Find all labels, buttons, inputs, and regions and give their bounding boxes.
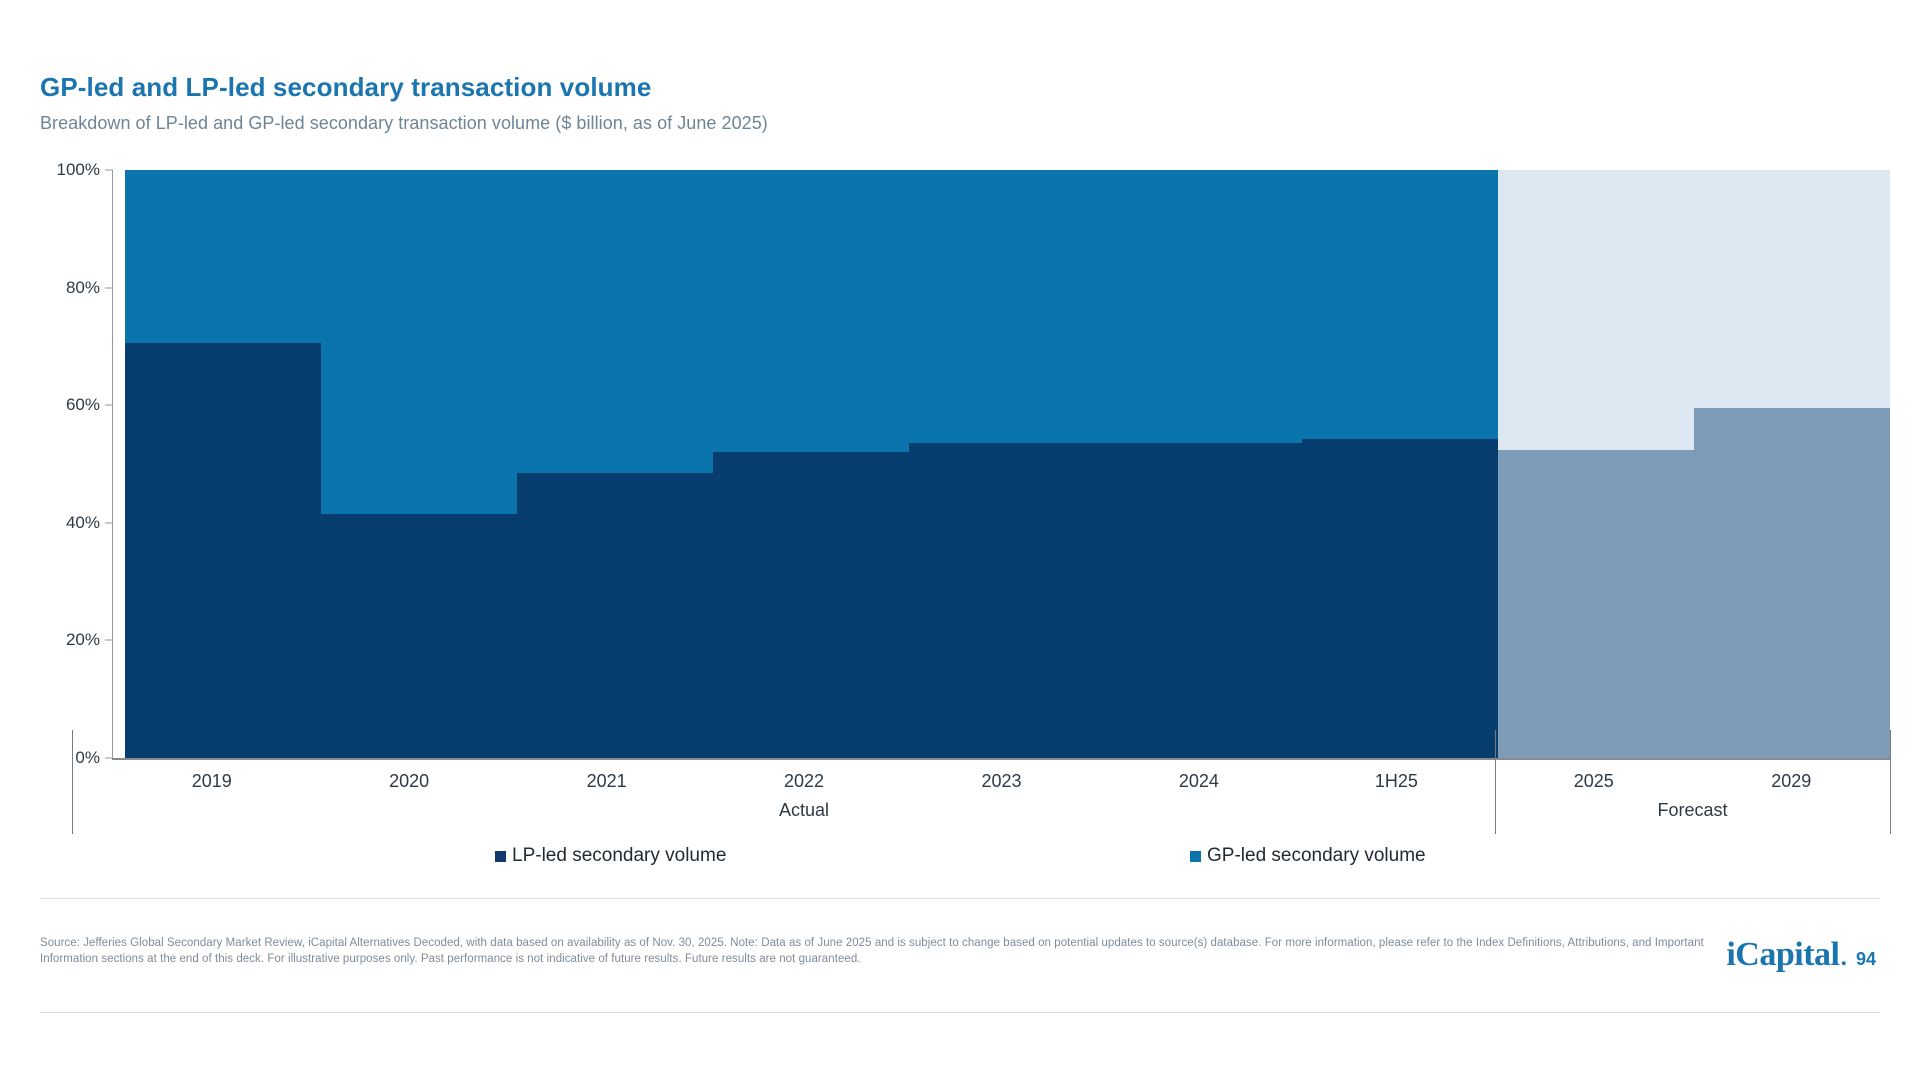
- bar-2024[interactable]: [1094, 170, 1290, 758]
- x-label-2021: 2021: [508, 766, 705, 796]
- footnote: Source: Jefferies Global Secondary Marke…: [40, 935, 1720, 967]
- y-tick-label: 100%: [57, 160, 100, 180]
- x-label-2025: 2025: [1495, 766, 1692, 796]
- bar-segment-gpled-2019[interactable]: [125, 170, 321, 343]
- y-tick-label: 0%: [75, 748, 100, 768]
- y-tick-mark: [105, 170, 113, 171]
- x-label-2029: 2029: [1693, 766, 1890, 796]
- y-tick-mark: [105, 522, 113, 523]
- legend-swatch-icon: [495, 851, 506, 862]
- y-tick-label: 40%: [66, 513, 100, 533]
- legend-swatch-icon: [1190, 851, 1201, 862]
- x-axis-group-labels: ActualForecast: [113, 800, 1890, 834]
- bar-2022[interactable]: [701, 170, 897, 758]
- group-label-actual: Actual: [113, 800, 1495, 821]
- legend-item-gp-led[interactable]: GP-led secondary volume: [1190, 845, 1426, 867]
- bar-segment-lpled-2019[interactable]: [125, 343, 321, 758]
- group-divider: [1495, 730, 1496, 834]
- bar-1H25[interactable]: [1290, 170, 1486, 758]
- bar-2021[interactable]: [505, 170, 701, 758]
- logo-dot: .: [1839, 936, 1848, 974]
- page-title: GP-led and LP-led secondary transaction …: [40, 72, 651, 103]
- bar-segment-lpled-2021[interactable]: [517, 473, 713, 758]
- bar-segment-lpled-2022[interactable]: [713, 452, 909, 758]
- bar-2029[interactable]: [1682, 170, 1878, 758]
- bar-2020[interactable]: [309, 170, 505, 758]
- bar-segment-gpled-2021[interactable]: [517, 170, 713, 473]
- y-tick-label: 80%: [66, 278, 100, 298]
- x-axis-labels: 2019202020212022202320241H2520252029: [113, 766, 1890, 796]
- group-divider-left: [72, 730, 73, 834]
- bar-group: [113, 170, 1878, 758]
- bar-segment-gpled-2025[interactable]: [1498, 170, 1694, 450]
- chart-legend: LP-led secondary volumeGP-led secondary …: [40, 845, 1840, 885]
- y-tick-mark: [105, 287, 113, 288]
- slide: GP-led and LP-led secondary transaction …: [0, 0, 1920, 1080]
- bar-segment-gpled-2023[interactable]: [909, 170, 1105, 443]
- y-tick-label: 60%: [66, 395, 100, 415]
- divider-top: [40, 898, 1880, 899]
- legend-label: LP-led secondary volume: [512, 845, 726, 867]
- icapital-logo: iCapital: [1726, 936, 1839, 974]
- x-label-2022: 2022: [705, 766, 902, 796]
- bar-2025[interactable]: [1486, 170, 1682, 758]
- x-axis-line: [112, 758, 1890, 760]
- bar-segment-lpled-2025[interactable]: [1498, 450, 1694, 758]
- bar-2019[interactable]: [113, 170, 309, 758]
- bar-segment-lpled-2029[interactable]: [1694, 408, 1890, 758]
- x-label-2019: 2019: [113, 766, 310, 796]
- bar-segment-lpled-2020[interactable]: [321, 514, 517, 758]
- y-tick-label: 20%: [66, 630, 100, 650]
- brand-logo-group: iCapital . 94: [1726, 936, 1876, 974]
- bar-2023[interactable]: [897, 170, 1093, 758]
- x-label-2023: 2023: [903, 766, 1100, 796]
- bar-segment-gpled-2024[interactable]: [1106, 170, 1302, 443]
- legend-label: GP-led secondary volume: [1207, 845, 1426, 867]
- y-tick-mark: [105, 405, 113, 406]
- bar-segment-gpled-2022[interactable]: [713, 170, 909, 452]
- bar-segment-gpled-2020[interactable]: [321, 170, 517, 514]
- chart: 0%20%40%60%80%100%: [40, 160, 1890, 760]
- bar-segment-lpled-1H25[interactable]: [1302, 439, 1498, 758]
- x-label-2024: 2024: [1100, 766, 1297, 796]
- page-number: 94: [1856, 949, 1876, 970]
- page-subtitle: Breakdown of LP-led and GP-led secondary…: [40, 113, 768, 134]
- bar-segment-gpled-2029[interactable]: [1694, 170, 1890, 408]
- group-divider: [1890, 730, 1891, 834]
- y-tick-mark: [105, 640, 113, 641]
- x-label-2020: 2020: [310, 766, 507, 796]
- x-label-1H25: 1H25: [1298, 766, 1495, 796]
- group-label-forecast: Forecast: [1495, 800, 1890, 821]
- bar-segment-lpled-2024[interactable]: [1106, 443, 1302, 758]
- divider-bottom: [40, 1012, 1880, 1013]
- bar-segment-gpled-1H25[interactable]: [1302, 170, 1498, 439]
- bar-segment-lpled-2023[interactable]: [909, 443, 1105, 758]
- legend-item-lp-led[interactable]: LP-led secondary volume: [495, 845, 726, 867]
